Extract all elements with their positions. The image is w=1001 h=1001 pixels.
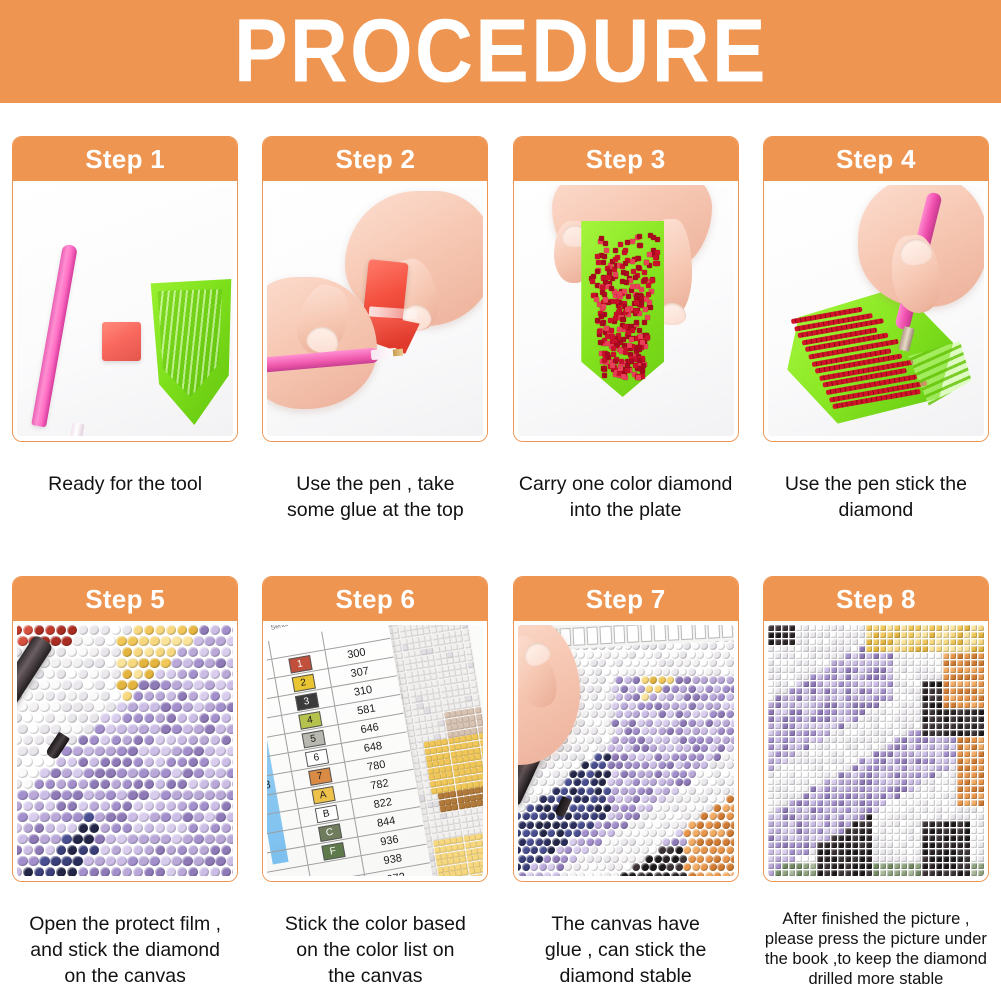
- step-header-4: Step 4: [764, 137, 988, 181]
- step-caption-4: Use the pen stick the diamond: [758, 472, 994, 524]
- step-image-1: [13, 181, 237, 441]
- step-header-1: Step 1: [13, 137, 237, 181]
- step-card-1: Step 1: [12, 136, 238, 442]
- page-title: PROCEDURE: [234, 7, 768, 97]
- step-caption-2: Use the pen , take some glue at the top: [257, 472, 493, 524]
- steps-row-bottom: Step 5 Open the protect film , and stick…: [0, 576, 1001, 990]
- step-cell-6: Step 6 SerialSymbolDMC121300323074331054…: [250, 576, 500, 990]
- step-cell-8: Step 8 After finished the picture , plea…: [751, 576, 1001, 990]
- step-card-4: Step 4: [763, 136, 989, 442]
- procedure-infographic: PROCEDURE Step 1 Rea: [0, 0, 1001, 1001]
- step-caption-7: The canvas have glue , can stick the dia…: [508, 912, 744, 990]
- step-cell-1: Step 1 Ready for the tool: [0, 136, 250, 524]
- step-card-8: Step 8: [763, 576, 989, 882]
- step-cell-4: Step 4 Use the pen stick the d: [751, 136, 1001, 524]
- step-header-6: Step 6: [263, 577, 487, 621]
- step-image-5: [13, 621, 237, 881]
- step-image-6: SerialSymbolDMC1213003230743310545816564…: [263, 621, 487, 881]
- step-caption-8: After finished the picture , please pres…: [753, 909, 999, 990]
- step-card-6: Step 6 SerialSymbolDMC121300323074331054…: [262, 576, 488, 882]
- step-cell-5: Step 5 Open the protect film , and stick…: [0, 576, 250, 990]
- step-cell-7: Step 7 The canvas have glue , can stick …: [501, 576, 751, 990]
- step-cell-2: Step 2: [250, 136, 500, 524]
- step-header-7: Step 7: [514, 577, 738, 621]
- step-image-7: [514, 621, 738, 881]
- step-cell-3: Step 3 Carry one color diamond into the …: [501, 136, 751, 524]
- step-card-2: Step 2: [262, 136, 488, 442]
- step-header-5: Step 5: [13, 577, 237, 621]
- step-header-8: Step 8: [764, 577, 988, 621]
- step-caption-1: Ready for the tool: [7, 472, 243, 498]
- step-image-8: [764, 621, 988, 881]
- step-header-2: Step 2: [263, 137, 487, 181]
- step-card-3: Step 3: [513, 136, 739, 442]
- step-caption-5: Open the protect film , and stick the di…: [7, 912, 243, 990]
- step-card-7: Step 7: [513, 576, 739, 882]
- step-caption-3: Carry one color diamond into the plate: [508, 472, 744, 524]
- finished-diamond-painting: [768, 625, 984, 876]
- step-image-3: [514, 181, 738, 441]
- page-banner: PROCEDURE: [0, 0, 1001, 103]
- step-caption-6: Stick the color based on the color list …: [257, 912, 493, 990]
- step-header-3: Step 3: [514, 137, 738, 181]
- step-image-2: [263, 181, 487, 441]
- step-card-5: Step 5: [12, 576, 238, 882]
- red-diamond-drills: [582, 229, 664, 379]
- steps-row-top: Step 1 Ready for the tool: [0, 136, 1001, 524]
- glue-wax-square: [102, 322, 141, 361]
- step-image-4: [764, 181, 988, 441]
